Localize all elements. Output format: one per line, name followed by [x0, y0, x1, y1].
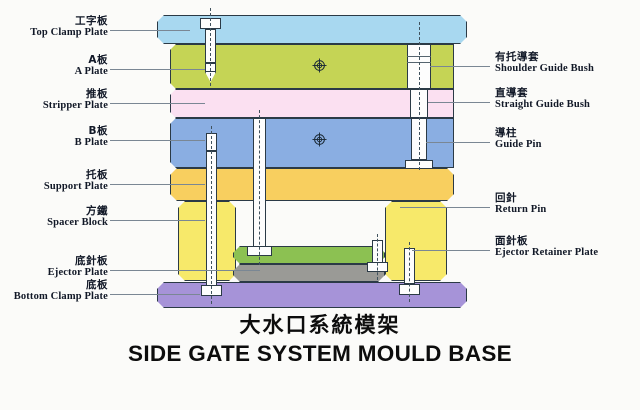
leader-straight-guide-bush	[428, 102, 490, 103]
datum-target-a-plate	[312, 58, 327, 73]
datum-target-b-plate	[312, 132, 327, 147]
label-top-clamp-plate-cn: 工字板	[30, 16, 108, 27]
label-b-plate-en: B Plate	[75, 138, 108, 149]
label-a-plate-cn: A板	[75, 55, 108, 66]
label-guide-pin: 導柱 Guide Pin	[495, 128, 542, 150]
label-ejector-plate-cn: 底針板	[48, 256, 108, 267]
leader-spacer-block	[110, 220, 205, 221]
label-a-plate-en: A Plate	[75, 67, 108, 78]
diagram-title-cn: 大水口系統模架	[0, 312, 640, 338]
leader-b-plate	[110, 140, 205, 141]
leader-return-pin	[400, 207, 490, 208]
leader-ejector-retainer-plate	[412, 250, 490, 251]
label-support-plate-cn: 托板	[44, 170, 108, 181]
center-sprue-centerline	[259, 110, 260, 265]
leader-shoulder-guide-bush	[430, 66, 490, 67]
label-shoulder-guide-bush-en: Shoulder Guide Bush	[495, 64, 594, 75]
label-spacer-block-cn: 方鐵	[47, 206, 108, 217]
label-top-clamp-plate-en: Top Clamp Plate	[30, 28, 108, 39]
label-stripper-plate: 推板 Stripper Plate	[43, 89, 108, 111]
label-spacer-block-en: Spacer Block	[47, 218, 108, 229]
label-support-plate-en: Support Plate	[44, 182, 108, 193]
label-guide-pin-en: Guide Pin	[495, 140, 542, 151]
label-ejector-retainer-plate: 面針板 Ejector Retainer Plate	[495, 236, 598, 258]
label-ejector-plate-en: Ejector Plate	[48, 268, 108, 279]
label-a-plate: A板 A Plate	[75, 55, 108, 77]
label-straight-guide-bush-cn: 直導套	[495, 88, 590, 99]
label-stripper-plate-en: Stripper Plate	[43, 101, 108, 112]
leader-stripper-plate	[110, 103, 205, 104]
label-top-clamp-plate: 工字板 Top Clamp Plate	[30, 16, 108, 38]
label-bottom-clamp-plate: 底板 Bottom Clamp Plate	[14, 280, 108, 302]
label-straight-guide-bush: 直導套 Straight Guide Bush	[495, 88, 590, 110]
label-return-pin-cn: 回針	[495, 193, 546, 204]
label-b-plate: B板 B Plate	[75, 126, 108, 148]
label-shoulder-guide-bush: 有托導套 Shoulder Guide Bush	[495, 52, 594, 74]
cap-screw-centerline	[210, 8, 211, 86]
plate-ejector	[233, 264, 385, 282]
label-ejector-retainer-plate-cn: 面針板	[495, 236, 598, 247]
label-return-pin-en: Return Pin	[495, 205, 546, 216]
label-stripper-plate-cn: 推板	[43, 89, 108, 100]
label-support-plate: 托板 Support Plate	[44, 170, 108, 192]
diagram-title-en: SIDE GATE SYSTEM MOULD BASE	[0, 340, 640, 368]
guide-pin-centerline	[419, 22, 420, 170]
leader-top-clamp-plate	[110, 30, 190, 31]
label-return-pin: 回針 Return Pin	[495, 193, 546, 215]
ejector-pin-centerline	[211, 126, 212, 304]
leader-guide-pin	[426, 142, 490, 143]
label-bottom-clamp-plate-en: Bottom Clamp Plate	[14, 292, 108, 303]
label-ejector-plate: 底針板 Ejector Plate	[48, 256, 108, 278]
diagram-title: 大水口系統模架 SIDE GATE SYSTEM MOULD BASE	[0, 312, 640, 368]
leader-ejector-plate	[110, 270, 260, 271]
return-pin-centerline	[377, 234, 378, 280]
mould-base-diagram-page: 工字板 Top Clamp Plate A板 A Plate 推板 Stripp…	[0, 0, 640, 410]
label-b-plate-cn: B板	[75, 126, 108, 137]
leader-bottom-clamp-plate	[110, 294, 200, 295]
label-spacer-block: 方鐵 Spacer Block	[47, 206, 108, 228]
label-bottom-clamp-plate-cn: 底板	[14, 280, 108, 291]
label-shoulder-guide-bush-cn: 有托導套	[495, 52, 594, 63]
leader-support-plate	[110, 184, 205, 185]
ejector-retainer-bolt-centerline	[409, 242, 410, 302]
label-guide-pin-cn: 導柱	[495, 128, 542, 139]
leader-a-plate	[110, 69, 205, 70]
label-ejector-retainer-plate-en: Ejector Retainer Plate	[495, 248, 598, 259]
spacer-block-right	[385, 201, 447, 281]
label-straight-guide-bush-en: Straight Guide Bush	[495, 100, 590, 111]
